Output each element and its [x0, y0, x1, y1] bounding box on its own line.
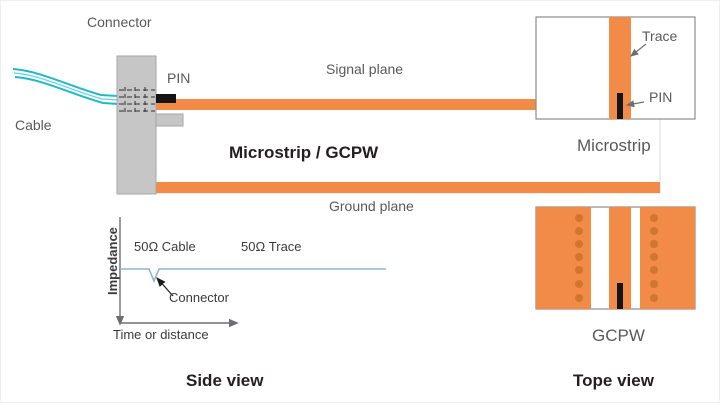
via — [650, 227, 658, 235]
label-cable: Cable — [15, 118, 52, 132]
via — [650, 253, 658, 261]
chart-impedance-curve — [120, 269, 386, 281]
microstrip-pin — [617, 93, 623, 119]
via — [575, 280, 583, 288]
label-pin: PIN — [167, 71, 190, 85]
label-connector: Connector — [87, 15, 152, 29]
via — [650, 240, 658, 248]
via — [650, 280, 658, 288]
connector-body-outline — [117, 56, 156, 194]
via — [575, 294, 583, 302]
via — [575, 253, 583, 261]
via — [650, 294, 658, 302]
ground-plane-copper — [156, 182, 660, 193]
gcpw-ground-right — [640, 207, 695, 309]
via — [650, 214, 658, 222]
caption-top-view: Tope view — [573, 371, 654, 391]
label-signal-plane: Signal plane — [326, 62, 403, 76]
via — [650, 266, 658, 274]
gcpw-panel — [536, 207, 695, 309]
chart-y-axis-label: Impedance — [105, 227, 120, 295]
figure-root: Connector Cable PIN Signal plane Ground … — [0, 0, 720, 403]
chart-annotation-cable-region: 50Ω Cable — [134, 240, 196, 253]
chart-x-axis-label: Time or distance — [113, 328, 209, 341]
label-trace: Trace — [642, 29, 677, 43]
label-board-type: Microstrip / GCPW — [229, 144, 378, 161]
via — [575, 227, 583, 235]
chart-annotation-connector: Connector — [169, 291, 229, 304]
label-ground-plane: Ground plane — [329, 199, 414, 213]
connector-pin — [156, 94, 176, 103]
label-pin-topview: PIN — [649, 90, 672, 104]
impedance-chart — [120, 217, 386, 323]
via — [575, 214, 583, 222]
caption-side-view: Side view — [186, 371, 263, 391]
panel-title-gcpw: GCPW — [592, 326, 645, 346]
panel-title-microstrip: Microstrip — [577, 136, 651, 156]
via — [575, 240, 583, 248]
gcpw-pin — [617, 283, 623, 309]
chart-annotation-trace-region: 50Ω Trace — [241, 240, 302, 253]
via — [575, 266, 583, 274]
